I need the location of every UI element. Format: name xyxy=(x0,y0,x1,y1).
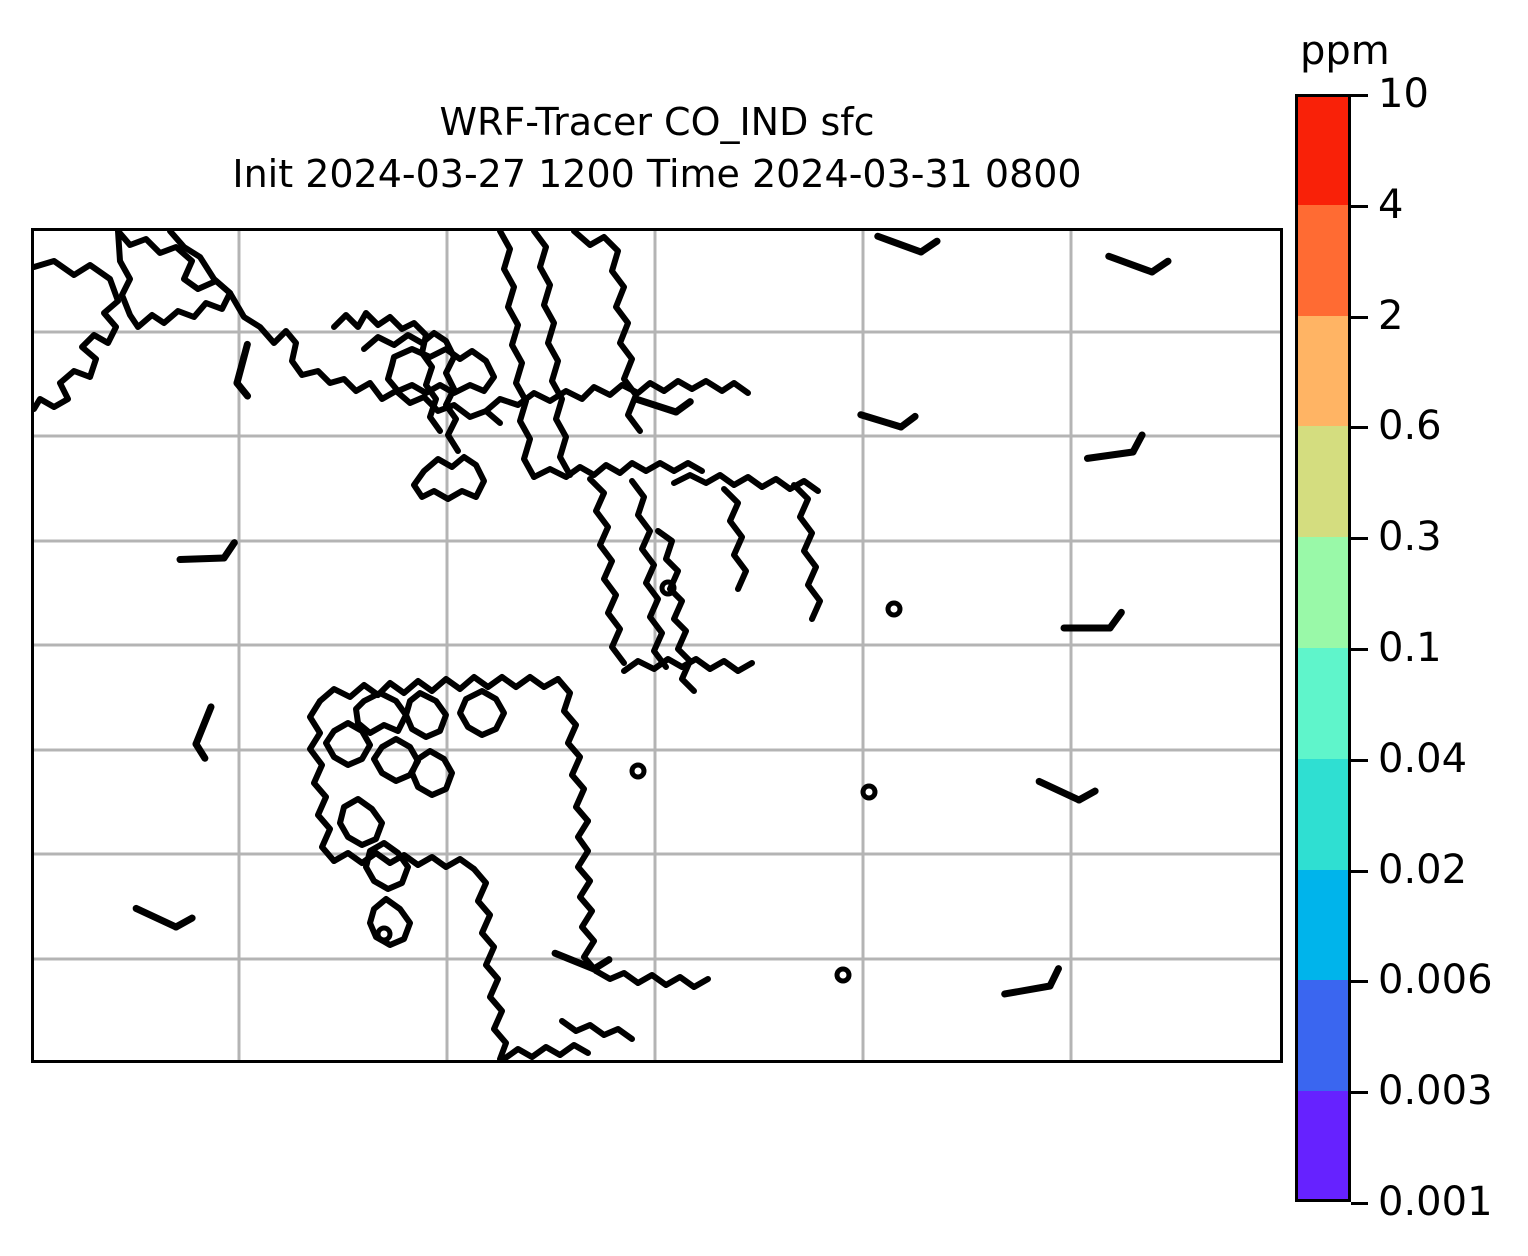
colorbar-tick-10 xyxy=(1351,1202,1368,1205)
wind-barb-9 xyxy=(1039,781,1095,800)
station-marker-4 xyxy=(378,928,390,940)
colorbar-unit-label: ppm xyxy=(1300,28,1390,74)
colorbar-tick-8 xyxy=(1351,980,1368,983)
colorbar[interactable] xyxy=(1295,94,1351,1202)
wind-barb-10 xyxy=(136,908,192,927)
colorbar-band-4 xyxy=(1298,537,1348,649)
colorbar-tick-label-10: 0.001 xyxy=(1378,1179,1493,1225)
wind-barb-5 xyxy=(1087,435,1142,458)
figure-root: WRF-Tracer CO_IND sfc Init 2024-03-27 12… xyxy=(0,0,1528,1256)
colorbar-tick-9 xyxy=(1351,1091,1368,1094)
wind-barb-1 xyxy=(1109,256,1168,272)
wind-barb-4 xyxy=(861,415,915,427)
station-marker-5 xyxy=(837,969,849,981)
colorbar-tick-label-2: 2 xyxy=(1378,293,1403,339)
colorbar-band-7 xyxy=(1298,870,1348,982)
wind-barb-3 xyxy=(636,399,690,412)
colorbar-tick-4 xyxy=(1351,537,1368,540)
map-canvas xyxy=(34,231,1280,1060)
colorbar-tick-label-1: 4 xyxy=(1378,182,1403,228)
colorbar-band-2 xyxy=(1298,316,1348,428)
colorbar-tick-label-4: 0.3 xyxy=(1378,514,1442,560)
colorbar-tick-label-3: 0.6 xyxy=(1378,403,1442,449)
colorbar-band-8 xyxy=(1298,980,1348,1092)
title-line-variable: WRF-Tracer CO_IND sfc xyxy=(31,96,1283,148)
colorbar-tick-6 xyxy=(1351,759,1368,762)
colorbar-tick-2 xyxy=(1351,316,1368,319)
colorbar-tick-0 xyxy=(1351,94,1368,97)
station-marker-layer xyxy=(378,582,900,981)
station-marker-2 xyxy=(632,765,644,777)
colorbar-tick-7 xyxy=(1351,870,1368,873)
colorbar-band-5 xyxy=(1298,648,1348,760)
wind-barb-7 xyxy=(1064,612,1121,628)
map-panel xyxy=(31,228,1283,1063)
colorbar-band-1 xyxy=(1298,205,1348,317)
map-svg xyxy=(34,231,1280,1060)
wind-barb-6 xyxy=(180,543,234,560)
wind-barb-0 xyxy=(878,236,937,252)
colorbar-tick-5 xyxy=(1351,648,1368,651)
colorbar-band-6 xyxy=(1298,759,1348,871)
colorbar-tick-1 xyxy=(1351,205,1368,208)
station-marker-1 xyxy=(888,603,900,615)
wind-barb-12 xyxy=(1005,969,1059,994)
colorbar-tick-label-7: 0.02 xyxy=(1378,847,1467,893)
page-title: WRF-Tracer CO_IND sfc Init 2024-03-27 12… xyxy=(31,96,1283,200)
colorbar-tick-3 xyxy=(1351,426,1368,429)
station-marker-3 xyxy=(863,786,875,798)
colorbar-tick-label-0: 10 xyxy=(1378,71,1429,117)
colorbar-tick-label-6: 0.04 xyxy=(1378,736,1467,782)
colorbar-tick-label-8: 0.006 xyxy=(1378,957,1493,1003)
colorbar-band-0 xyxy=(1298,94,1348,206)
colorbar-band-9 xyxy=(1298,1091,1348,1202)
colorbar-tick-label-9: 0.003 xyxy=(1378,1068,1493,1114)
title-line-times: Init 2024-03-27 1200 Time 2024-03-31 080… xyxy=(31,148,1283,200)
colorbar-band-3 xyxy=(1298,426,1348,538)
colorbar-tick-label-5: 0.1 xyxy=(1378,625,1442,671)
